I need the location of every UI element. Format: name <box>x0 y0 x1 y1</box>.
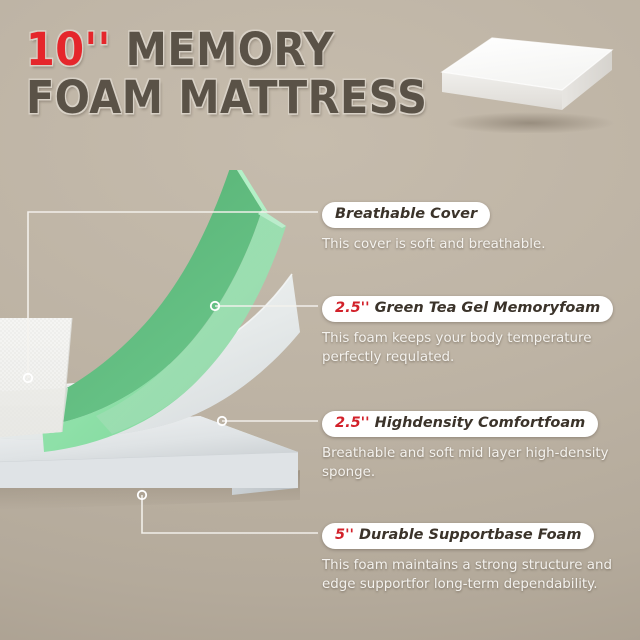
callout-label-durable-supportbase[interactable]: 5'' Durable Supportbase Foam <box>322 523 594 549</box>
callout-description-breathable-cover: This cover is soft and breathable. <box>322 235 545 254</box>
callout-durable-supportbase: 5'' Durable Supportbase Foam This foam m… <box>322 523 614 594</box>
infographic-page: 10'' MEMORY FOAM MATTRESS <box>0 0 640 640</box>
callout-title-green-tea-gel: Green Tea Gel Memoryfoam <box>370 300 601 316</box>
callout-description-highdensity-comfortfoam: Breathable and soft mid layer high-densi… <box>322 444 614 482</box>
callout-measure-highdensity-comfortfoam: 2.5'' <box>335 415 370 431</box>
title-measurement: 10'' <box>26 23 111 76</box>
callout-breathable-cover: Breathable Cover This cover is soft and … <box>322 202 545 254</box>
callout-description-green-tea-gel: This foam keeps your body temperature pe… <box>322 329 614 367</box>
mattress-layers-illustration <box>0 170 360 550</box>
title-line-1-rest: MEMORY <box>111 23 334 76</box>
callout-title-durable-supportbase: Durable Supportbase Foam <box>354 527 581 543</box>
callout-measure-durable-supportbase: 5'' <box>335 527 354 543</box>
callout-label-highdensity-comfortfoam[interactable]: 2.5'' Highdensity Comfortfoam <box>322 411 598 437</box>
page-title: 10'' MEMORY FOAM MATTRESS <box>26 26 446 122</box>
callout-label-breathable-cover[interactable]: Breathable Cover <box>322 202 490 228</box>
callout-highdensity-comfortfoam: 2.5'' Highdensity Comfortfoam Breathable… <box>322 411 614 482</box>
callout-measure-green-tea-gel: 2.5'' <box>335 300 370 316</box>
callout-green-tea-gel: 2.5'' Green Tea Gel Memoryfoam This foam… <box>322 296 614 367</box>
callout-title-breathable-cover: Breathable Cover <box>335 206 477 222</box>
callout-label-green-tea-gel[interactable]: 2.5'' Green Tea Gel Memoryfoam <box>322 296 613 322</box>
title-line-2: FOAM MATTRESS <box>26 74 412 122</box>
callout-title-highdensity-comfortfoam: Highdensity Comfortfoam <box>370 415 586 431</box>
title-line-1: 10'' MEMORY <box>26 26 412 74</box>
callout-description-durable-supportbase: This foam maintains a strong structure a… <box>322 556 614 594</box>
product-photo-mattress <box>434 28 624 133</box>
